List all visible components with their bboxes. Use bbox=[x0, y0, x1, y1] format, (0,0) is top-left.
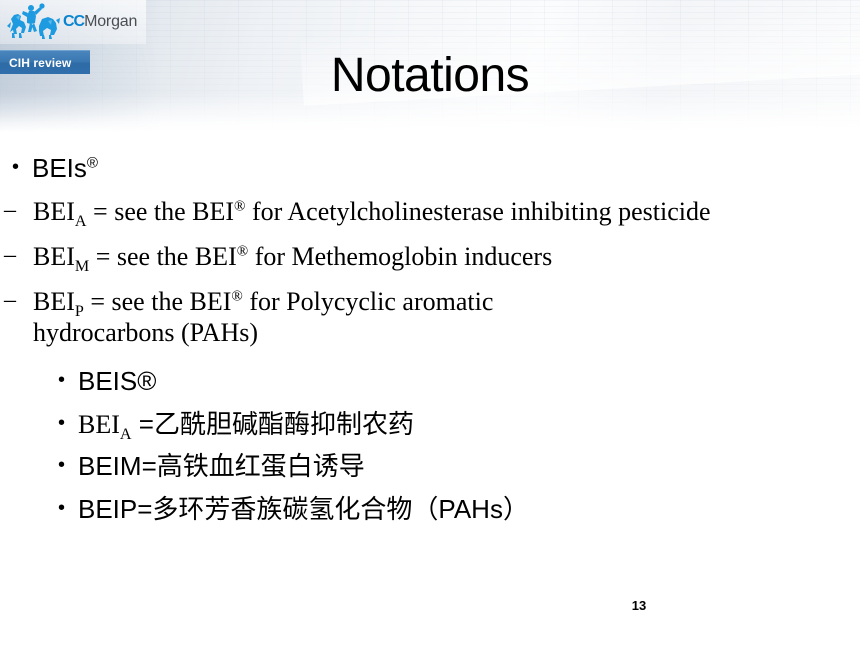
bullet-glyph: • bbox=[0, 154, 32, 182]
list-item: – BEIP = see the BEI® for Polycyclic aro… bbox=[0, 286, 860, 348]
item-2-mid: = see the BEI bbox=[89, 242, 237, 271]
list-item-text: BEIA = see the BEI® for Acetylcholineste… bbox=[33, 196, 860, 227]
list-item-text: BEIP = see the BEI® for Polycyclic aroma… bbox=[33, 286, 628, 348]
list-item-text: BEIA =乙酰胆碱酯酶抑制农药 bbox=[78, 410, 860, 440]
dash-glyph: – bbox=[0, 286, 33, 315]
list-item-text: BEIS® bbox=[78, 367, 860, 397]
item-3-mid: = see the BEI bbox=[84, 287, 232, 316]
slide-canvas: CCMorgan CIH review Notations • BEIs® – … bbox=[0, 0, 860, 650]
list-item: • BEIP=多环芳香族碳氢化合物（PAHs） bbox=[46, 495, 860, 525]
item-2-prefix: BEI bbox=[33, 242, 75, 271]
logo-wordmark: CCMorgan bbox=[63, 14, 137, 30]
list-item-text: BEIs® bbox=[32, 154, 860, 184]
list-item: • BEIM=高铁血红蛋白诱导 bbox=[46, 452, 860, 482]
bullet-glyph: • bbox=[46, 452, 78, 480]
list-item: • BEIS® bbox=[46, 367, 860, 397]
page-number: 13 bbox=[614, 598, 664, 613]
item-3-sup: ® bbox=[231, 289, 242, 305]
item-3-prefix: BEI bbox=[33, 287, 75, 316]
item-2-sup: ® bbox=[237, 243, 248, 259]
item-1-rest: for Acetylcholinesterase inhibiting pest… bbox=[246, 197, 711, 226]
bullet-glyph: • bbox=[46, 410, 78, 438]
bullet-glyph: • bbox=[46, 367, 78, 395]
item-5-rest: =乙酰胆碱酯酶抑制农药 bbox=[132, 409, 414, 439]
dash-glyph: – bbox=[0, 241, 33, 270]
list-item: – BEIM = see the BEI® for Methemoglobin … bbox=[0, 241, 860, 272]
page-title: Notations bbox=[0, 50, 860, 103]
logo-morgan-text: Morgan bbox=[84, 14, 137, 30]
item-5-prefix: BEI bbox=[78, 410, 120, 439]
item-2-rest: for Methemoglobin inducers bbox=[248, 242, 552, 271]
item-1-prefix: BEI bbox=[33, 197, 75, 226]
item-1-sup: ® bbox=[234, 198, 245, 214]
slide-body: • BEIs® – BEIA = see the BEI® for Acetyl… bbox=[0, 150, 860, 525]
dash-glyph: – bbox=[0, 196, 33, 225]
item-0-prefix: BEIs bbox=[32, 153, 87, 183]
logo-cc-text: CC bbox=[63, 14, 84, 30]
list-item: • BEIA =乙酰胆碱酯酶抑制农药 bbox=[46, 410, 860, 440]
item-1-subscript: A bbox=[75, 213, 87, 230]
bullet-glyph: • bbox=[46, 495, 78, 523]
item-2-subscript: M bbox=[75, 258, 89, 275]
item-1-mid: = see the BEI bbox=[87, 197, 235, 226]
heraldic-crest-icon bbox=[4, 2, 62, 42]
ccmorgan-logo: CCMorgan bbox=[0, 0, 146, 44]
item-5-subscript: A bbox=[120, 426, 132, 443]
list-item: – BEIA = see the BEI® for Acetylcholines… bbox=[0, 196, 860, 227]
item-0-sup: ® bbox=[87, 154, 98, 171]
list-item-text: BEIM = see the BEI® for Methemoglobin in… bbox=[33, 241, 860, 272]
list-item-text: BEIM=高铁血红蛋白诱导 bbox=[78, 452, 860, 482]
list-item: • BEIs® bbox=[0, 154, 860, 184]
list-item-text: BEIP=多环芳香族碳氢化合物（PAHs） bbox=[78, 495, 860, 525]
